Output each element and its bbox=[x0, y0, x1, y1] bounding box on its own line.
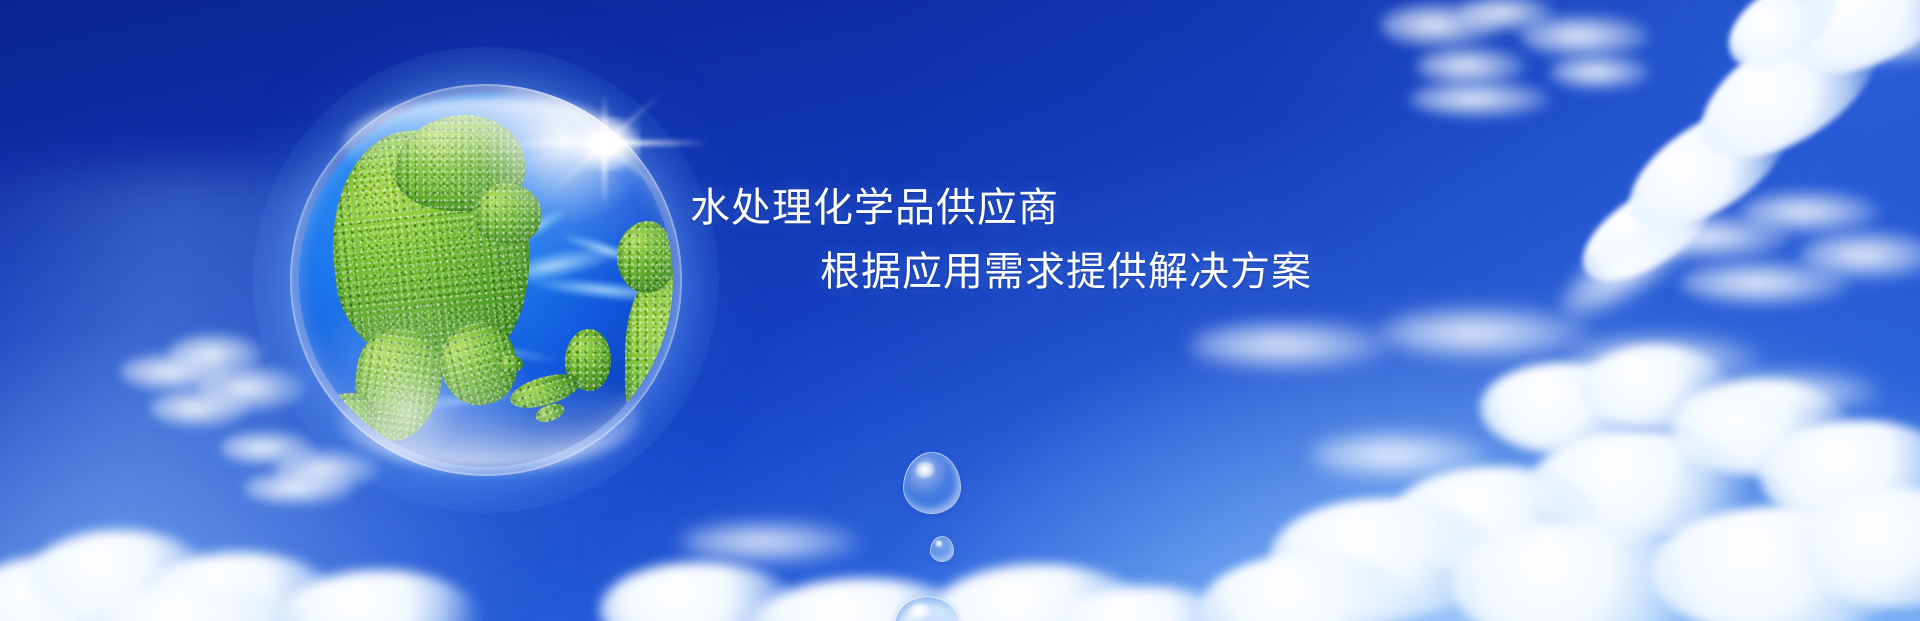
cloud-right-mid bbox=[1640, 190, 1920, 320]
hero-banner: 水处理化学品供应商 根据应用需求提供解决方案 bbox=[0, 0, 1920, 621]
landmass-island-small-a bbox=[497, 355, 523, 373]
landmass-sub-island bbox=[323, 393, 377, 437]
landmass-africa-sliver bbox=[625, 273, 673, 463]
cloud-top-right-edge bbox=[1760, 0, 1920, 120]
water-droplet-small bbox=[930, 536, 954, 562]
globe-graphic bbox=[299, 93, 673, 467]
cloud-bank-bottom-right bbox=[1150, 310, 1920, 621]
water-droplet-large bbox=[903, 452, 961, 514]
water-droplet-bottom bbox=[894, 596, 960, 621]
landmass-peninsula-east bbox=[475, 183, 541, 243]
cloud-band-upper-right bbox=[1490, 0, 1920, 401]
cloud-bank-bottom-center bbox=[600, 520, 1220, 621]
banner-headline: 水处理化学品供应商 根据应用需求提供解决方案 bbox=[690, 188, 1390, 292]
headline-line-secondary: 根据应用需求提供解决方案 bbox=[820, 252, 1390, 292]
headline-line-primary: 水处理化学品供应商 bbox=[690, 188, 1390, 228]
landmass-east-edge bbox=[617, 221, 673, 293]
cloud-upper-mid bbox=[1380, 0, 1700, 134]
globe-sphere bbox=[299, 93, 673, 467]
